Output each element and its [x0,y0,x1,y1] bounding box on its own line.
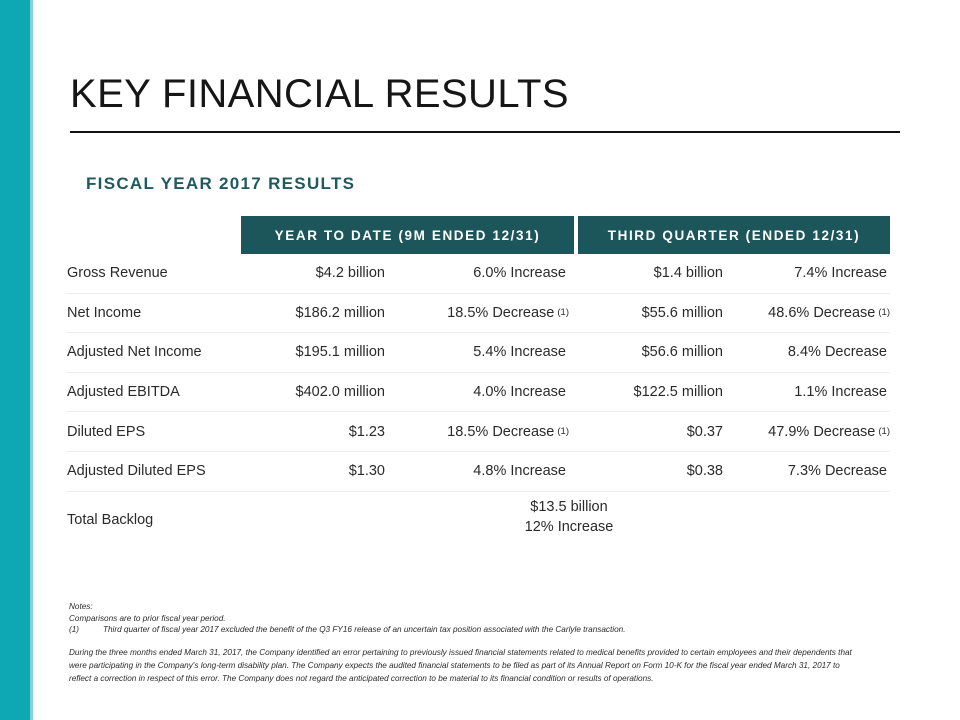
q3-footnote-marker: (1) [878,426,890,437]
q3-value: $0.38 [575,452,723,491]
q3-footnote-marker: (1) [878,307,890,318]
ytd-change: 4.8% Increase [389,452,569,491]
q3-change-text: 48.6% Decrease [768,305,875,321]
q3-change-text: 47.9% Decrease [768,424,875,440]
title-divider-rule [70,131,900,133]
q3-change: 7.3% Decrease [727,452,890,491]
footnote-1-text: Third quarter of fiscal year 2017 exclud… [103,624,625,636]
ytd-change-text: 5.4% Increase [473,344,566,360]
q3-change-text: 8.4% Decrease [788,344,887,360]
ytd-change: 18.5% Decrease(1) [389,412,569,451]
backlog-change: 12% Increase [457,517,681,537]
table-row: Gross Revenue $4.2 billion 6.0% Increase… [67,254,890,294]
ytd-change: 6.0% Increase [389,254,569,293]
q3-value: $122.5 million [575,373,723,412]
ytd-value: $1.30 [237,452,385,491]
table-row: Diluted EPS $1.23 18.5% Decrease(1) $0.3… [67,412,890,452]
row-label: Adjusted EBITDA [67,373,237,412]
table-row: Adjusted EBITDA $402.0 million 4.0% Incr… [67,373,890,413]
footnote-1: (1) Third quarter of fiscal year 2017 ex… [69,624,859,636]
backlog-values: $13.5 billion 12% Increase [457,497,681,537]
slide-canvas: KEY FINANCIAL RESULTS FISCAL YEAR 2017 R… [0,0,960,720]
table-header-row: YEAR TO DATE (9M ENDED 12/31) THIRD QUAR… [67,216,890,254]
notes-block: Notes: Comparisons are to prior fiscal y… [69,601,859,636]
q3-value: $0.37 [575,412,723,451]
q3-value: $55.6 million [575,294,723,333]
q3-change: 48.6% Decrease(1) [727,294,890,333]
notes-heading: Notes: [69,601,859,613]
ytd-change: 5.4% Increase [389,333,569,372]
ytd-change: 18.5% Decrease(1) [389,294,569,333]
ytd-value: $1.23 [237,412,385,451]
row-label: Gross Revenue [67,254,237,293]
section-heading: FISCAL YEAR 2017 RESULTS [86,174,355,194]
column-header-year-to-date: YEAR TO DATE (9M ENDED 12/31) [241,216,574,254]
table-row: Adjusted Diluted EPS $1.30 4.8% Increase… [67,452,890,492]
column-header-third-quarter: THIRD QUARTER (ENDED 12/31) [578,216,890,254]
table-row: Net Income $186.2 million 18.5% Decrease… [67,294,890,334]
ytd-change-text: 18.5% Decrease [447,305,554,321]
ytd-footnote-marker: (1) [557,426,569,437]
ytd-change: 4.0% Increase [389,373,569,412]
ytd-value: $402.0 million [237,373,385,412]
ytd-change-text: 4.8% Increase [473,463,566,479]
page-title: KEY FINANCIAL RESULTS [70,72,569,117]
q3-change-text: 1.1% Increase [794,384,887,400]
q3-value: $56.6 million [575,333,723,372]
q3-change-text: 7.4% Increase [794,265,887,281]
ytd-change-text: 4.0% Increase [473,384,566,400]
row-label: Adjusted Net Income [67,333,237,372]
row-label: Net Income [67,294,237,333]
left-accent-bar-edge [30,0,33,720]
q3-value: $1.4 billion [575,254,723,293]
row-label: Adjusted Diluted EPS [67,452,237,491]
ytd-value: $195.1 million [237,333,385,372]
row-label: Diluted EPS [67,412,237,451]
ytd-change-text: 6.0% Increase [473,265,566,281]
table-row: Adjusted Net Income $195.1 million 5.4% … [67,333,890,373]
q3-change: 8.4% Decrease [727,333,890,372]
financial-results-table: YEAR TO DATE (9M ENDED 12/31) THIRD QUAR… [67,216,890,548]
ytd-footnote-marker: (1) [557,307,569,318]
table-row-total-backlog: Total Backlog $13.5 billion 12% Increase [67,492,890,548]
row-label: Total Backlog [67,492,153,548]
left-accent-bar [0,0,30,720]
q3-change: 1.1% Increase [727,373,890,412]
ytd-value: $186.2 million [237,294,385,333]
footnote-1-marker: (1) [69,624,103,636]
notes-comparison-line: Comparisons are to prior fiscal year per… [69,613,859,625]
q3-change-text: 7.3% Decrease [788,463,887,479]
ytd-value: $4.2 billion [237,254,385,293]
q3-change: 7.4% Increase [727,254,890,293]
q3-change: 47.9% Decrease(1) [727,412,890,451]
ytd-change-text: 18.5% Decrease [447,424,554,440]
backlog-value: $13.5 billion [457,497,681,517]
disclaimer-paragraph: During the three months ended March 31, … [69,646,855,686]
